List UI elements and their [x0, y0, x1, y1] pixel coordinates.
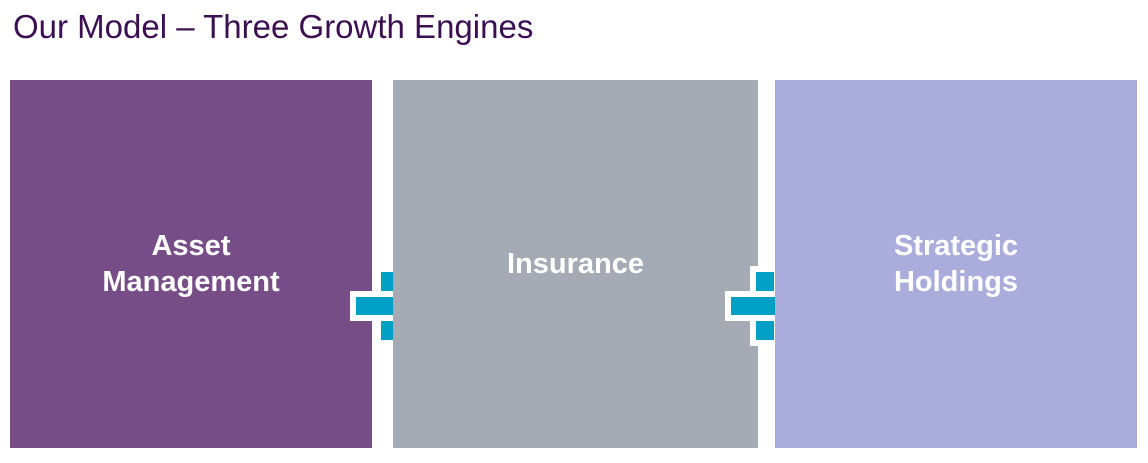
page-title: Our Model – Three Growth Engines [13, 5, 533, 49]
engine-label: Insurance [493, 246, 658, 282]
plus-icon-center [756, 297, 774, 315]
engine-box-asset-management[interactable]: Asset Management [10, 80, 372, 448]
engine-label: Asset Management [88, 228, 293, 300]
slide-canvas: Our Model – Three Growth Engines Asset M… [0, 0, 1148, 463]
engine-label: Strategic Holdings [880, 228, 1032, 300]
engine-box-strategic-holdings[interactable]: Strategic Holdings [775, 80, 1137, 448]
growth-engines-row: Asset Management Insurance Strategic Hol… [0, 80, 1148, 448]
engine-box-insurance[interactable]: Insurance [393, 80, 758, 448]
